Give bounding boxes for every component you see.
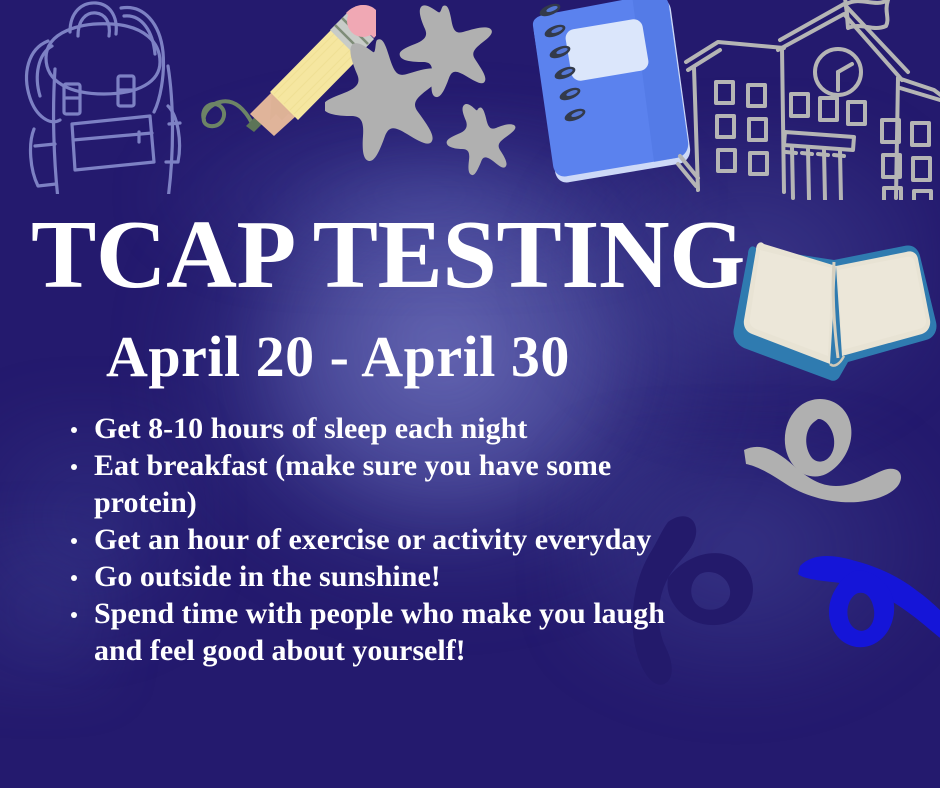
list-item: Go outside in the sunshine! (66, 558, 666, 595)
list-item: Eat breakfast (make sure you have some p… (66, 447, 666, 521)
list-item: Get 8-10 hours of sleep each night (66, 410, 666, 447)
swirl-doodle-gray-icon (742, 392, 920, 520)
spiral-notebook-icon (522, 0, 692, 186)
open-book-icon (730, 222, 940, 387)
testing-tips-list: Get 8-10 hours of sleep each night Eat b… (66, 410, 666, 669)
swirl-doodle-blue-icon (798, 548, 940, 668)
date-range-subtitle: April 20 - April 30 (106, 328, 570, 386)
stars-icon (325, 4, 535, 182)
list-item: Spend time with people who make you laug… (66, 595, 666, 669)
school-building-icon (672, 0, 940, 200)
pencil-icon (198, 2, 376, 147)
backpack-icon (8, 0, 198, 194)
list-item: Get an hour of exercise or activity ever… (66, 521, 666, 558)
tcap-testing-poster: TCAP TESTING April 20 - April 30 Get 8-1… (0, 0, 940, 788)
page-title: TCAP TESTING (31, 206, 745, 304)
